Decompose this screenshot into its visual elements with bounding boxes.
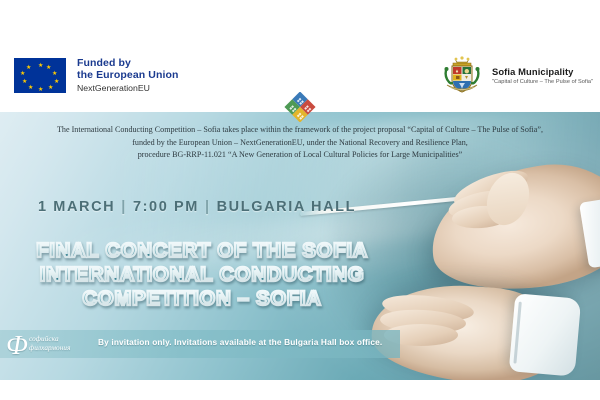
philharmonic-name-line2: филхармония: [29, 344, 71, 353]
page-title: FINAL CONCERT OF THE SOFIA INTERNATIONAL…: [0, 239, 404, 311]
title-line-2: INTERNATIONAL CONDUCTING: [40, 263, 365, 287]
eu-funding-line1: Funded by: [77, 57, 179, 69]
eu-funding-line2: the European Union: [77, 69, 179, 81]
event-venue: BULGARIA HALL: [217, 199, 356, 215]
dateline-separator: |: [121, 199, 127, 215]
event-time: 7:00 PM: [133, 199, 199, 215]
sofia-philharmonic-logo: Ф софийска филхармония: [4, 330, 90, 360]
title-line-1: FINAL CONCERT OF THE SOFIA: [36, 239, 368, 263]
philharmonic-name-line1: софийска: [29, 335, 71, 344]
municipality-tagline: "Capital of Culture – The Pulse of Sofia…: [492, 78, 593, 86]
dateline-separator: |: [205, 199, 211, 215]
event-poster: ★ ★ ★ ★ ★ ★ ★ ★ ★ ★ Funded by the Europe…: [0, 0, 600, 380]
philharmonic-monogram-icon: Ф: [6, 332, 28, 359]
philharmonic-name: софийска филхармония: [29, 335, 71, 354]
sofia-municipality-logo: Sofia Municipality "Capital of Culture –…: [440, 54, 593, 98]
municipality-name: Sofia Municipality: [492, 66, 593, 77]
event-date: 1 MARCH: [38, 199, 115, 215]
event-dateline: 1 MARCH|7:00 PM|BULGARIA HALL: [38, 199, 356, 215]
capital-of-culture-diamond-icon: [281, 92, 319, 122]
eu-flag-icon: ★ ★ ★ ★ ★ ★ ★ ★ ★ ★: [14, 58, 66, 93]
blurb-line-1: The International Conducting Competition…: [12, 124, 588, 137]
blurb-line-2: funded by the European Union – NextGener…: [12, 137, 588, 150]
shirt-cuff: [509, 293, 582, 376]
blurb-line-3: procedure BG-RRP-11.021 “A New Generatio…: [12, 149, 588, 162]
eu-funding-logo: ★ ★ ★ ★ ★ ★ ★ ★ ★ ★ Funded by the Europe…: [14, 57, 179, 94]
sofia-municipality-text: Sofia Municipality "Capital of Culture –…: [492, 66, 593, 86]
eu-funding-text: Funded by the European Union NextGenerat…: [77, 57, 179, 94]
sofia-coat-of-arms-icon: [440, 54, 484, 98]
title-line-3: COMPETITION – SOFIA: [82, 287, 321, 311]
eu-funding-programme: NextGenerationEU: [77, 82, 179, 94]
footer-white-band: [0, 380, 600, 400]
project-blurb: The International Conducting Competition…: [12, 124, 588, 162]
invitation-notice: By invitation only. Invitations availabl…: [98, 337, 382, 347]
